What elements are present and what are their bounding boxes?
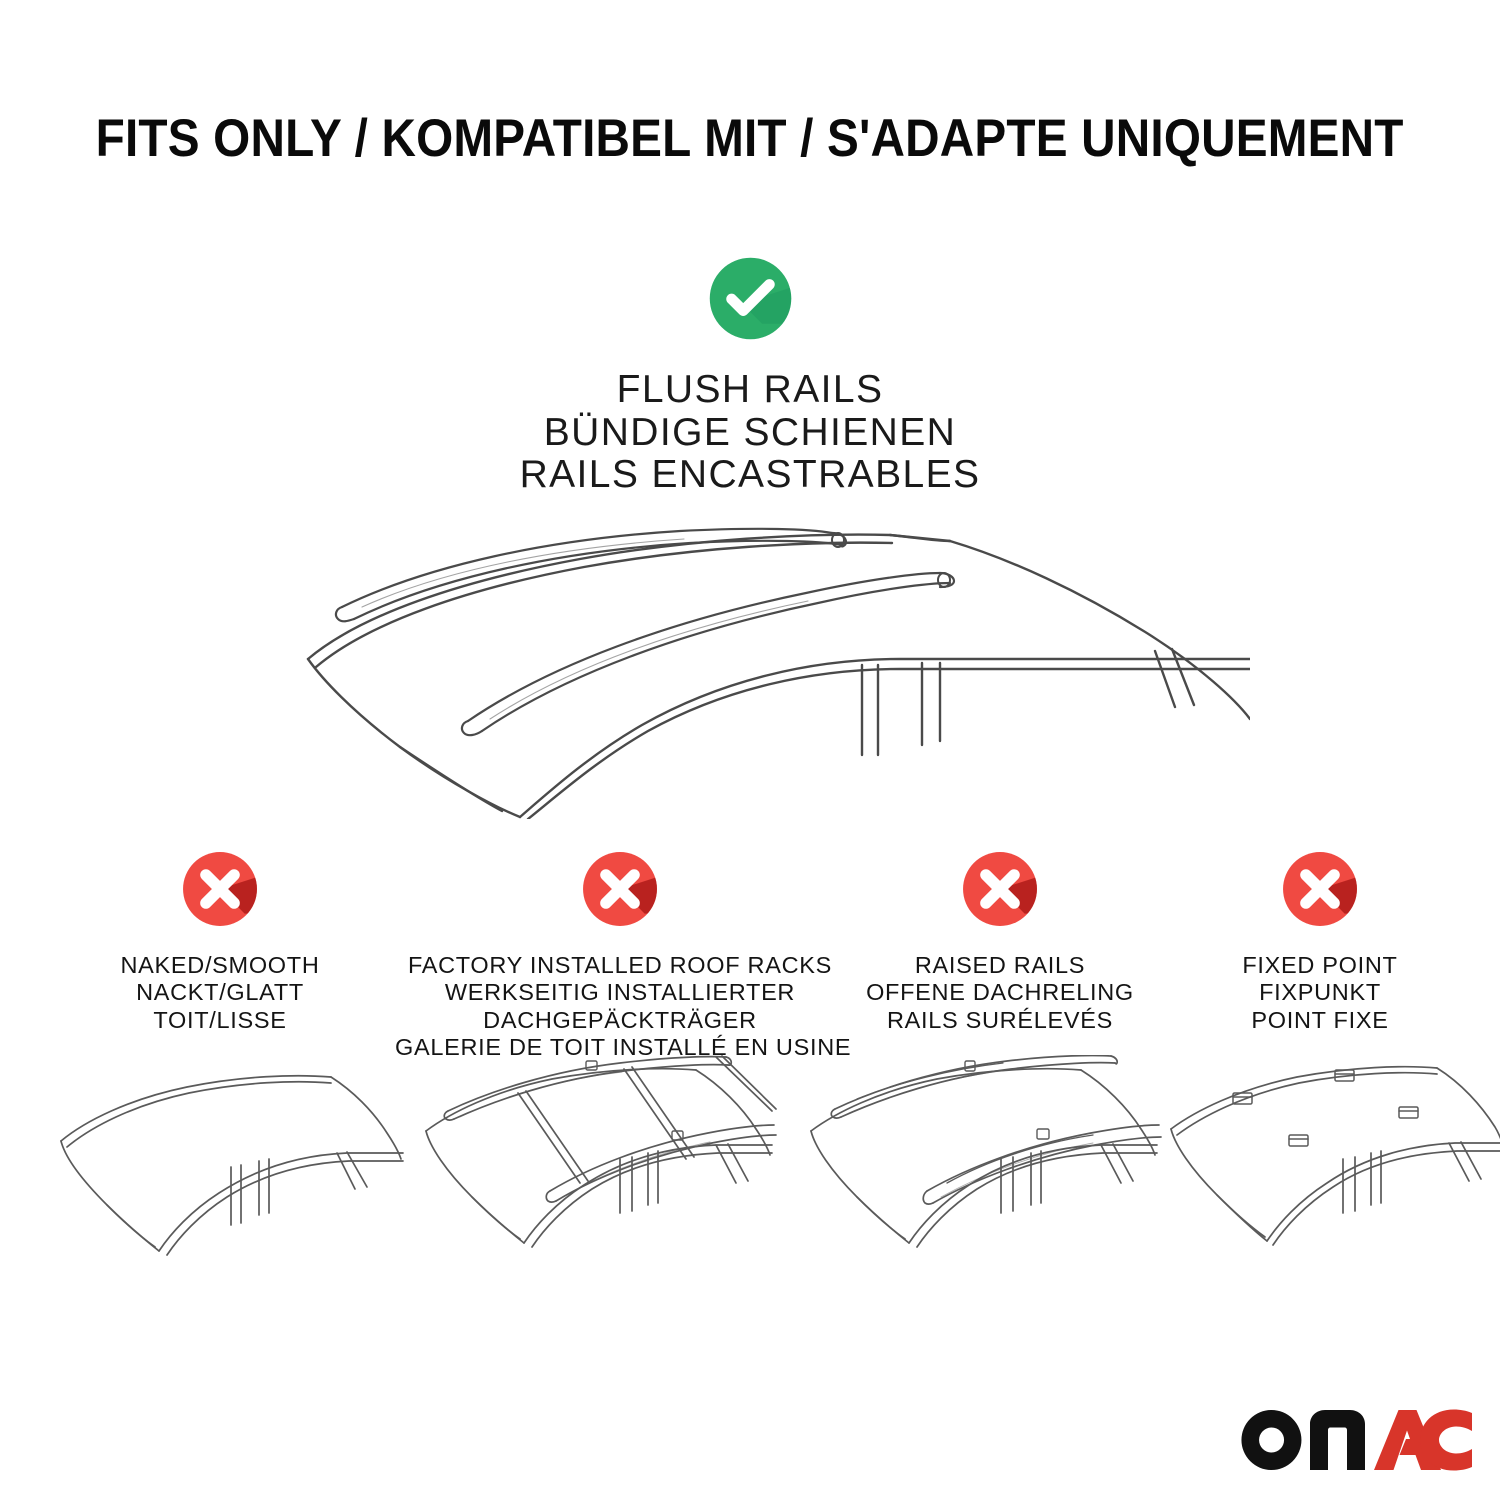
item-label-line-2: NACKT/GLATT xyxy=(70,979,370,1006)
car-roof-naked-smooth-illustration xyxy=(55,1055,405,1290)
item-label-line-3: DACHGEPÄCKTRÄGER xyxy=(395,1007,845,1034)
item-label-line-2: OFFENE DACHRELING xyxy=(845,979,1155,1006)
car-roof-factory-racks-illustration xyxy=(420,1055,790,1290)
badge-wrap xyxy=(1175,845,1465,938)
car-roof-flush-rails-illustration xyxy=(250,519,1250,819)
car-roof-fixed-point-illustration xyxy=(1165,1055,1500,1290)
compatible-label-line-2: BÜNDIGE SCHIENEN xyxy=(250,412,1250,455)
incompatible-item-naked-smooth: NAKED/SMOOTH NACKT/GLATT TOIT/LISSE xyxy=(70,845,370,1034)
item-label: NAKED/SMOOTH NACKT/GLATT TOIT/LISSE xyxy=(70,952,370,1034)
item-label-line-3: RAILS SURÉLEVÉS xyxy=(845,1007,1155,1034)
omac-logo xyxy=(1240,1408,1472,1472)
compatible-label: FLUSH RAILS BÜNDIGE SCHIENEN RAILS ENCAS… xyxy=(250,369,1250,497)
item-label-line-2: WERKSEITIG INSTALLIERTER xyxy=(395,979,845,1006)
incompatible-item-raised-rails: RAISED RAILS OFFENE DACHRELING RAILS SUR… xyxy=(845,845,1155,1034)
item-label-line-3: POINT FIXE xyxy=(1175,1007,1465,1034)
compatible-label-line-1: FLUSH RAILS xyxy=(250,369,1250,412)
item-label-line-1: NAKED/SMOOTH xyxy=(70,952,370,979)
page-title-bar: FITS ONLY / KOMPATIBEL MIT / S'ADAPTE UN… xyxy=(0,108,1500,169)
incompatible-item-fixed-point: FIXED POINT FIXPUNKT POINT FIXE xyxy=(1175,845,1465,1034)
logo-letter-m xyxy=(1310,1410,1365,1470)
compatible-badge-wrap xyxy=(250,250,1250,352)
item-label-line-3: TOIT/LISSE xyxy=(70,1007,370,1034)
x-circle-icon xyxy=(956,845,1044,933)
x-circle-icon xyxy=(576,845,664,933)
x-circle-icon xyxy=(176,845,264,933)
compatible-label-line-3: RAILS ENCASTRABLES xyxy=(250,454,1250,497)
check-circle-icon xyxy=(702,250,799,347)
compatible-section: FLUSH RAILS BÜNDIGE SCHIENEN RAILS ENCAS… xyxy=(250,250,1250,819)
car-roof-raised-rails-illustration xyxy=(805,1055,1175,1290)
x-circle-icon xyxy=(1276,845,1364,933)
badge-wrap xyxy=(70,845,370,938)
item-label-line-2: FIXPUNKT xyxy=(1175,979,1465,1006)
item-label: FIXED POINT FIXPUNKT POINT FIXE xyxy=(1175,952,1465,1034)
item-label-line-1: FIXED POINT xyxy=(1175,952,1465,979)
incompatible-item-factory-racks: FACTORY INSTALLED ROOF RACKS WERKSEITIG … xyxy=(395,845,845,1061)
roof-illustrations-row xyxy=(0,1055,1500,1295)
badge-wrap xyxy=(845,845,1155,938)
item-label: FACTORY INSTALLED ROOF RACKS WERKSEITIG … xyxy=(395,952,845,1061)
item-label-line-1: RAISED RAILS xyxy=(845,952,1155,979)
page-title: FITS ONLY / KOMPATIBEL MIT / S'ADAPTE UN… xyxy=(96,108,1404,169)
incompatible-grid: NAKED/SMOOTH NACKT/GLATT TOIT/LISSE FACT… xyxy=(0,845,1500,1085)
logo-letter-o xyxy=(1241,1410,1301,1470)
item-label: RAISED RAILS OFFENE DACHRELING RAILS SUR… xyxy=(845,952,1155,1034)
badge-wrap xyxy=(395,845,845,938)
item-label-line-1: FACTORY INSTALLED ROOF RACKS xyxy=(395,952,845,979)
